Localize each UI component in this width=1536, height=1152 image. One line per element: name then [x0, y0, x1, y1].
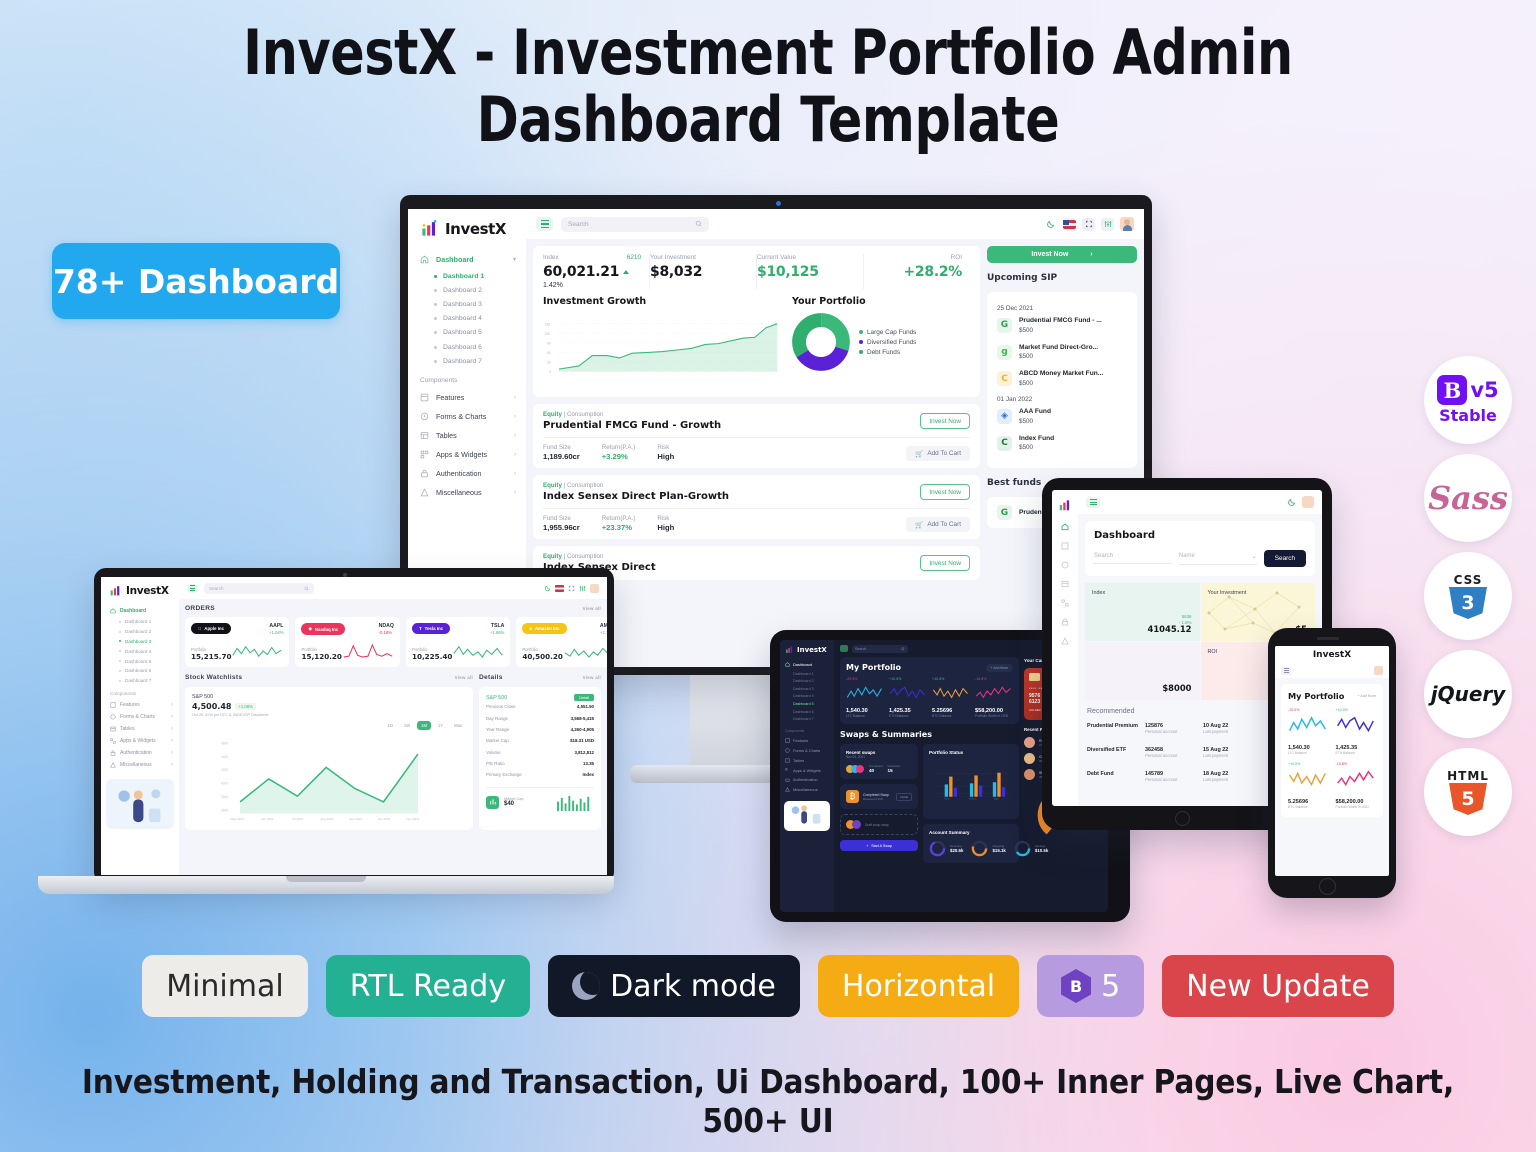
webcam-icon [776, 201, 781, 206]
sidebar-item-apps-widgets[interactable]: Apps & Widgets› [408, 445, 526, 464]
sip-name: Index Fund [1019, 434, 1054, 444]
invest-now-button[interactable]: Invest Now [920, 413, 970, 429]
portfolio-item: +10.5% 1,425.35 ETH Balance [1336, 708, 1377, 755]
sidebar-subitem[interactable]: Dashboard 3 [101, 637, 179, 647]
plus-icon: + [866, 844, 868, 848]
search-icon [695, 220, 702, 229]
sidebar-subitem[interactable]: Dashboard 4 [780, 693, 834, 701]
logo-icon [420, 219, 439, 238]
features-icon [110, 702, 116, 708]
sidebar-subitem-dashboard-3[interactable]: Dashboard 3 [408, 297, 526, 311]
chevron-right-icon: › [1090, 251, 1092, 258]
fund-logo-icon: G [997, 318, 1012, 333]
brand: InvestX [408, 219, 526, 250]
misc-icon[interactable] [1061, 637, 1069, 645]
sidebar-subitem[interactable]: Dashboard 7 [101, 676, 179, 686]
orders-title: ORDERS [185, 605, 215, 612]
stat-your-investment: Your Investment $8,032 [650, 254, 757, 289]
symbol: NDAQ [379, 623, 394, 629]
moon-icon[interactable] [1044, 218, 1057, 231]
moon-icon[interactable] [1287, 498, 1296, 507]
fund-tag-sector: Consumption [567, 482, 603, 489]
flag-icon[interactable] [555, 585, 564, 592]
settings-icon[interactable] [1101, 218, 1114, 231]
html5-icon: HTML 5 [1448, 769, 1488, 815]
flag-icon[interactable] [1063, 218, 1076, 231]
view-all-link[interactable]: View all [583, 675, 601, 680]
avatar [1024, 753, 1035, 764]
sidebar-item-tables[interactable]: Tables› [408, 426, 526, 445]
stat-current-value: Current Value $10,125 [757, 254, 864, 289]
search-placeholder: Search [209, 586, 224, 591]
sip-amount: $500 [1019, 444, 1033, 451]
table-icon [420, 431, 429, 440]
return-label: Return(P.A.) [602, 444, 636, 451]
sip-amount: $500 [1019, 353, 1033, 360]
view-all-link[interactable]: View all [455, 675, 473, 680]
sidebar-dashboard-label: Dashboard [436, 255, 474, 264]
order-card[interactable]: ◆Nasdaq Inc NDAQ-0.18% Portfolio15,120.2… [295, 617, 399, 667]
laptop-sidebar: InvestX Dashboard Dashboard 1 Dashboard … [101, 577, 179, 875]
detail-value: 4,260-4,905 [571, 727, 594, 732]
label: Features [436, 393, 464, 402]
sip-name: Prudential FMCG Fund - ... [1019, 316, 1102, 326]
sip-item[interactable]: g Market Fund Direct-Gro...$500 [997, 343, 1127, 362]
sidebar-subitem[interactable]: Dashboard 3 [780, 685, 834, 693]
badge-horizontal: Horizontal [818, 955, 1019, 1017]
sidebar-item-miscellaneous[interactable]: Miscellaneous› [408, 483, 526, 502]
sip-item[interactable]: G Prudential FMCG Fund - ...$500 [997, 316, 1127, 335]
sidebar-subitem-dashboard-4[interactable]: Dashboard 4 [408, 312, 526, 326]
white-tablet-sidebar [1052, 490, 1078, 806]
sidebar-subitem[interactable]: Dashboard 7 [780, 715, 834, 723]
svg-text:Nov 2021: Nov 2021 [406, 817, 419, 821]
fund-logo-icon: g [997, 345, 1012, 360]
sidebar-subitem-dashboard-5[interactable]: Dashboard 5 [408, 326, 526, 340]
sidebar-subitem[interactable]: Dashboard 4 [101, 646, 179, 656]
sidebar-item-forms-charts[interactable]: Forms & Charts› [408, 407, 526, 426]
search-placeholder: Search [855, 647, 866, 651]
tablet-home-button[interactable] [1175, 811, 1190, 826]
bar-chart-icon [489, 798, 497, 806]
account-title: Account Summary [929, 830, 1013, 835]
fullscreen-icon[interactable] [1082, 218, 1095, 231]
sip-item[interactable]: ◈ AAA Fund$500 [997, 407, 1127, 426]
stat-roi: ROI +28.2% [864, 254, 970, 289]
apple-icon:  [198, 626, 201, 631]
bootstrap-stable-label: Stable [1439, 406, 1497, 425]
moon-icon[interactable] [544, 585, 551, 592]
phone-screen: InvestX My Portfolio + Add More -20.5% [1275, 646, 1389, 876]
donut-outgoing [971, 840, 988, 857]
sidebar-subitem[interactable]: Dashboard 5 [780, 700, 834, 708]
fund-size-value: 1,955.96cr [543, 523, 580, 532]
fullscreen-icon[interactable] [568, 585, 575, 592]
invest-now-button[interactable]: Invest Now [920, 555, 970, 571]
sidebar-item-dashboard[interactable]: Dashboard [101, 605, 179, 617]
fund-tag-sector: Consumption [567, 553, 603, 560]
menu-toggle-button[interactable] [187, 584, 198, 593]
search-button[interactable]: Search [1264, 550, 1306, 567]
upcoming-sip-title: Upcoming SIP [987, 273, 1137, 283]
draft-swap-card[interactable]: Draft swap swap [840, 814, 918, 835]
sidebar-subitem[interactable]: Dashboard 2 [101, 627, 179, 637]
order-card[interactable]: TTesla Inc TSLA+1.86% Portfolio10,225.40 [406, 617, 510, 667]
laptop-notch [286, 876, 366, 882]
sidebar-item-features[interactable]: Features› [101, 699, 179, 711]
tech-bootstrap: Bv5 Stable [1424, 356, 1512, 444]
svg-text:3800: 3800 [221, 795, 228, 799]
fund-name: Debt Fund [1087, 771, 1139, 777]
sidebar-item-tables[interactable]: Tables [780, 756, 834, 766]
return-label: Return(P.A.) [602, 515, 636, 522]
search-input[interactable]: Search [1094, 553, 1172, 564]
widgets-icon[interactable] [1061, 599, 1069, 607]
fund-name: Diversified ETF [1087, 747, 1139, 753]
stat-value: $8,032 [650, 264, 748, 280]
return-value: +3.29% [602, 452, 636, 461]
sidebar-item-features[interactable]: Features› [408, 388, 526, 407]
portfolio-item: +10.5% 1,425.35 ETH Balance [889, 677, 927, 718]
order-card[interactable]: Apple Inc AAPL+1.04% Portfolio15,215.70 [185, 617, 289, 667]
risk-value: High [657, 452, 674, 461]
orders-grid: Apple Inc AAPL+1.04% Portfolio15,215.70… [185, 617, 601, 667]
sip-name: AAA Fund [1019, 407, 1051, 417]
sidebar-item-apps-widgets[interactable]: Apps & Widgets [780, 765, 834, 775]
table-icon[interactable] [1061, 580, 1069, 588]
details-symbol: S&P 500 [486, 695, 507, 701]
add-to-cart-button[interactable]: 🛒Add To Cart [906, 517, 970, 532]
search-input[interactable]: Search [561, 217, 709, 232]
portfolio-item: +10.5% 5.25696 BTC Balance [932, 677, 970, 718]
label: BTC Balance [1288, 805, 1329, 809]
badge-rtl-ready: RTL Ready [326, 955, 530, 1017]
add-more-button[interactable]: + Add More [1358, 694, 1376, 698]
view-all-link[interactable]: View all [583, 606, 601, 611]
badge-new-update: New Update [1162, 955, 1394, 1017]
stock-watchlist-card: S&P 500 4,500.48 +1.08% Oct 25, 5:04 pm … [185, 687, 473, 830]
chart-icon [420, 412, 429, 421]
svg-text:4200: 4200 [221, 768, 228, 772]
sparkline [932, 681, 970, 705]
label: Dashboard 2 [443, 287, 482, 294]
invest-now-button[interactable]: Invest Now [920, 484, 970, 500]
donut-incoming [929, 840, 946, 857]
detail-label: Day Range [486, 716, 508, 721]
features-icon[interactable] [1061, 542, 1069, 550]
detail-value: 3,812,812 [574, 750, 594, 755]
sip-item[interactable]: C ABCD Money Market Fun...$500 [997, 369, 1127, 388]
watchlist-title: Stock Watchlists [185, 674, 242, 681]
features-icon [785, 738, 790, 743]
detail-value: 4,551.50 [577, 704, 594, 709]
tech-css3: CSS 3 [1424, 552, 1512, 640]
footer-caption: Investment, Holding and Transaction, Ui … [77, 1062, 1459, 1140]
swaps-section: Swaps & Summaries Recent swaps Nov 04, 2… [840, 730, 1019, 863]
sidebar-subitem[interactable]: Dashboard 1 [101, 617, 179, 627]
order-value: 10,225.40 [412, 652, 452, 661]
watchlist-area-chart: 460044004200 400038003600 May 2021Jun 20… [192, 733, 466, 821]
phone-device: InvestX My Portfolio + Add More -20.5% [1268, 628, 1396, 898]
label: Forms & Charts [436, 412, 486, 421]
sparkline [563, 641, 607, 661]
sidebar-subitem[interactable]: Dashboard 1 [780, 670, 834, 678]
svg-text:4400: 4400 [221, 755, 228, 759]
chart-icon [785, 748, 790, 753]
legend-label: Debt Funds [867, 349, 900, 356]
label: Dashboard 3 [443, 301, 482, 308]
sip-name: ABCD Money Market Fun... [1019, 369, 1103, 379]
svg-text:30: 30 [547, 361, 551, 365]
fund-tag-equity: Equity [543, 482, 562, 489]
svg-text:May 2021: May 2021 [230, 817, 244, 821]
menu-toggle-button[interactable] [1281, 667, 1291, 675]
fund-tag-equity: Equity [543, 411, 562, 418]
sparkline [889, 681, 927, 705]
lock-icon[interactable] [1061, 618, 1069, 626]
cart-icon: 🛒 [915, 450, 923, 458]
label: BTC Balance [932, 714, 970, 718]
nasdaq-icon: ◆ [308, 626, 311, 632]
lock-icon [420, 469, 429, 478]
tech-html5: HTML 5 [1424, 748, 1512, 836]
segment-1d[interactable]: 1D [383, 721, 396, 730]
widgets-icon [110, 738, 116, 744]
lock-icon [110, 750, 116, 756]
return-value: +23.37% [602, 523, 636, 532]
brand-name: InvestX [445, 220, 506, 238]
sidebar-item-dashboard[interactable]: Dashboard [780, 660, 834, 670]
svg-text:60: 60 [547, 351, 551, 355]
sidebar-item-miscellaneous[interactable]: Miscellaneous [780, 785, 834, 795]
svg-text:Jul 2021: Jul 2021 [292, 817, 304, 821]
details-badge: Detail [574, 694, 594, 701]
label: Apps & Widgets [436, 450, 487, 459]
phone-header [1275, 663, 1389, 678]
portfolio-legend: Large Cap Funds Diversified Funds Debt F… [859, 326, 916, 359]
segment-1w[interactable]: 1W [400, 721, 414, 730]
details-title: Details [479, 674, 503, 681]
page-title: InvestX - Investment Portfolio Admin Das… [138, 20, 1398, 154]
amazon-icon: a [529, 626, 531, 631]
svg-text:Ethereum: Ethereum [969, 798, 977, 801]
sidebar-subitem[interactable]: Dashboard 6 [101, 666, 179, 676]
company-pill: ◆Nasdaq Inc [301, 623, 345, 635]
sidebar-item-features[interactable]: Features [780, 736, 834, 746]
stat-label: Your Investment [650, 254, 696, 261]
home-icon [420, 255, 429, 264]
label: Portfolio Worth in USD [1336, 805, 1377, 809]
avatar[interactable] [1120, 217, 1134, 231]
invest-now-cta[interactable]: Invest Now› [987, 246, 1137, 263]
badge-bootstrap-5: B 5 [1037, 955, 1144, 1017]
detail-label: Primary Exchange [486, 772, 522, 777]
menu-toggle-button[interactable] [536, 217, 553, 231]
detail-label: Previous Close [486, 704, 516, 709]
swaps-title: Swaps & Summaries [840, 730, 1019, 739]
home-icon [785, 662, 790, 667]
sidebar-item-authentication[interactable]: Authentication› [408, 464, 526, 483]
segment-max[interactable]: Max [450, 721, 466, 730]
recent-swaps-date: Nov 04, 2021 [846, 755, 912, 759]
search-input[interactable]: Search [852, 645, 908, 653]
range-segments[interactable]: 1D 1W 1M 1Y Max [192, 721, 466, 730]
sidebar-subitem[interactable]: Dashboard 2 [780, 677, 834, 685]
completed-swap-card: ₿ Completed Swap Received 0.45% Detail [840, 784, 918, 809]
brand-name: InvestX [1275, 646, 1389, 663]
detail-label: Year Range [486, 727, 509, 732]
css3-icon: CSS 3 [1448, 573, 1488, 619]
growth-area-chart: 15012090 60300 [543, 313, 782, 387]
badge-dark-mode: Dark mode [548, 955, 800, 1017]
tech-logos: Bv5 Stable Sass CSS 3 jQuery HTML 5 [1424, 356, 1512, 836]
symbol: AMZN [600, 623, 607, 629]
sidebar-item-authentication[interactable]: Authentication› [101, 747, 179, 759]
sip-item[interactable]: C Index Fund$500 [997, 434, 1127, 453]
sparkline [1336, 712, 1377, 738]
sidebar-section-components: Components [101, 685, 179, 699]
sidebar-item-forms-charts[interactable]: Forms & Charts [780, 746, 834, 756]
speaker-grill [1317, 637, 1339, 640]
tile-label: Index [1092, 590, 1105, 596]
avatar [1024, 769, 1035, 780]
mini-bars [556, 794, 594, 811]
segment-1y[interactable]: 1Y [434, 721, 447, 730]
stat-value: 60,021.21 [543, 264, 641, 280]
chart-icon[interactable] [1061, 561, 1069, 569]
svg-text:4600: 4600 [221, 741, 228, 745]
laptop-header: Search [179, 577, 607, 599]
search-icon [901, 647, 905, 651]
moon-icon [572, 972, 600, 1000]
dashboard-header-card: Dashboard Search Name⌄ Search [1085, 521, 1315, 576]
sidebar-item-miscellaneous[interactable]: Miscellaneous› [101, 759, 179, 771]
detail-button[interactable]: Detail [896, 793, 912, 801]
market-cap-value: $40 [504, 801, 524, 807]
sidebar-item-forms-charts[interactable]: Forms & Charts› [101, 711, 179, 723]
portfolio-grid: -20.5% 1,540.30 LTC Balance +10.5% 1,425… [1288, 708, 1376, 810]
sidebar-subitem-dashboard-2[interactable]: Dashboard 2 [408, 283, 526, 297]
stat-label: Current Value [757, 254, 796, 261]
svg-text:Bitcoin: Bitcoin [945, 798, 950, 801]
phone-home-button[interactable] [1319, 878, 1336, 895]
legend-label: Large Cap Funds [867, 329, 916, 336]
sidebar-subitem-dashboard-7[interactable]: Dashboard 7 [408, 354, 526, 368]
sidebar-item-tables[interactable]: Tables› [101, 723, 179, 735]
menu-toggle-button[interactable] [840, 645, 848, 652]
stats-row: Index6210 60,021.21 1.42% Your Investmen… [543, 254, 970, 289]
search-placeholder: Search [568, 221, 589, 228]
add-more-button[interactable]: + Add More [986, 664, 1013, 672]
search-icon [304, 586, 309, 591]
label: LTC Balance [846, 714, 884, 718]
sass-icon: Sass [1428, 479, 1508, 517]
sip-name: Market Fund Direct-Gro... [1019, 343, 1098, 353]
order-card[interactable]: aAmazon Inc AMZN+2.74% Portfolio40,500.2… [516, 617, 607, 667]
label: Miscellaneous [436, 488, 482, 497]
tile-sub: 5636 [1182, 614, 1192, 619]
home-icon[interactable] [1061, 523, 1069, 531]
sidebar-subitem-dashboard-6[interactable]: Dashboard 6 [408, 340, 526, 354]
sidebar-subitem[interactable]: Dashboard 6 [780, 708, 834, 716]
avatar[interactable] [1374, 666, 1383, 675]
watch-name: S&P 500 [192, 694, 466, 700]
sidebar-section-components: Components [408, 368, 526, 388]
desktop-header: Search [526, 209, 1144, 239]
fund-tag-equity: Equity [543, 553, 562, 560]
sparkline [452, 641, 504, 661]
my-portfolio-card: My Portfolio + Add More -20.5% 1,540.30 … [1281, 684, 1383, 817]
change: +1.86% [490, 630, 504, 635]
svg-text:Oct 2021: Oct 2021 [378, 817, 391, 821]
portfolio-bar-chart: BitcoinEthereumRipple [929, 758, 1013, 812]
dark-sidebar: InvestX Dashboard Dashboard 1 Dashboard … [780, 640, 834, 912]
name-select[interactable]: Name⌄ [1179, 553, 1257, 565]
bootstrap-icon: B [1061, 969, 1091, 1003]
company-pill: aAmazon Inc [522, 623, 566, 634]
recent-swaps-card: Recent swaps Nov 04, 2021 Completed40 Ca… [840, 744, 918, 779]
label: Dashboard 7 [443, 358, 482, 365]
detail-value: 3,568-5,415 [571, 716, 594, 721]
segment-1m[interactable]: 1M [417, 721, 431, 730]
menu-toggle-button[interactable] [1086, 497, 1100, 508]
svg-text:3600: 3600 [221, 808, 228, 812]
portfolio-donut-chart [792, 313, 850, 371]
change: +2.74% [600, 630, 607, 635]
bootstrap-icon: B [1437, 375, 1467, 405]
fund-logo-icon: G [997, 505, 1012, 520]
misc-icon [785, 787, 790, 792]
start-swap-button[interactable]: +Start A Swap [840, 840, 918, 851]
sidebar-item-dashboard[interactable]: Dashboard ▾ [408, 250, 526, 269]
detail-value: 13.35 [583, 761, 594, 766]
fund-size-value: 1,189.60cr [543, 452, 580, 461]
fund-logo-icon: C [997, 371, 1012, 386]
trend-up-icon [623, 270, 629, 274]
label: Tables [436, 431, 457, 440]
label: Portfolio Worth in USD [975, 714, 1013, 718]
search-input[interactable]: Search [204, 583, 314, 594]
avatar[interactable] [590, 584, 599, 593]
badge-label: 5 [1101, 969, 1120, 1004]
brand-name: InvestX [126, 585, 169, 597]
risk-value: High [657, 523, 674, 532]
label: ETH Balance [889, 714, 927, 718]
sidebar-subitem[interactable]: Dashboard 5 [101, 656, 179, 666]
home-icon [110, 608, 116, 614]
add-to-cart-button[interactable]: 🛒Add To Cart [906, 446, 970, 461]
detail-label: Market Cap [486, 738, 509, 743]
tile-value: 41045.12 [1148, 624, 1192, 634]
avatar[interactable] [1302, 496, 1314, 508]
sparkline [1288, 712, 1329, 738]
company-pill: Apple Inc [191, 623, 231, 634]
settings-icon[interactable] [579, 585, 586, 592]
stat-value: $10,125 [757, 264, 855, 280]
portfolio-chart-title: Your Portfolio [792, 296, 970, 307]
logo-icon [109, 584, 122, 597]
risk-label: Risk [657, 444, 674, 451]
stat-value: +28.2% [864, 264, 962, 280]
order-value: 15,215.70 [191, 652, 231, 661]
portfolio-status-card: Portfolio Status BitcoinEthereumRip [923, 744, 1019, 819]
svg-text:Ripple: Ripple [994, 799, 999, 801]
chart-title: Investment Growth [543, 296, 782, 307]
sidebar-subitem-dashboard-1[interactable]: Dashboard 1 [408, 269, 526, 283]
sidebar-item-apps-widgets[interactable]: Apps & Widgets› [101, 735, 179, 747]
svg-text:Jun 2021: Jun 2021 [261, 817, 274, 821]
sidebar-item-authentication[interactable]: Authentication [780, 775, 834, 785]
